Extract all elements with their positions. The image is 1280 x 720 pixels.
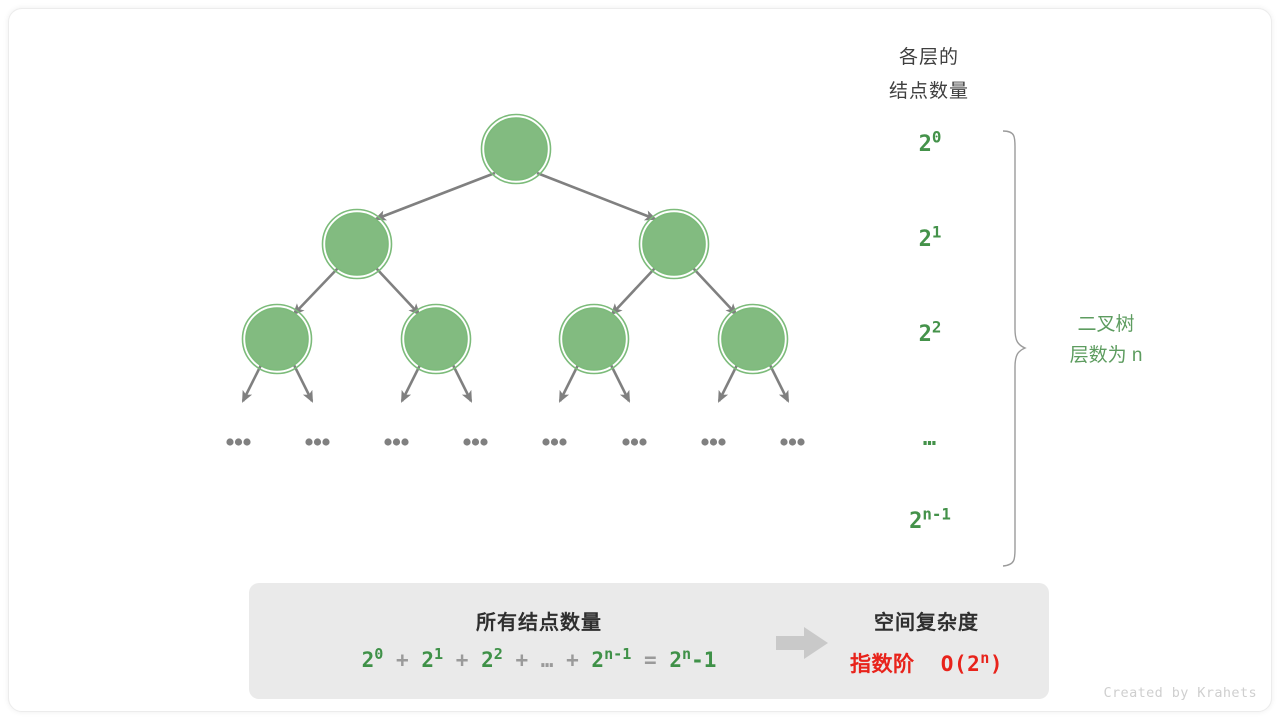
formula-operator: +: [566, 648, 579, 672]
level-count-base: 2: [909, 509, 922, 534]
summary-left-title: 所有结点数量: [279, 606, 799, 635]
formula-operator: +: [396, 648, 409, 672]
diagram-card: 各层的 结点数量 20 21 22 … 2n-1 二叉树 层数为 n 所有结点数…: [8, 8, 1272, 712]
level-count-base: 2: [919, 227, 932, 252]
formula-operator: =: [644, 648, 657, 672]
tree-node: [405, 308, 467, 370]
summary-left-formula: 20 + 21 + 22 + … + 2n-1 = 2n-1: [279, 648, 799, 672]
formula-result: 2n-1: [669, 648, 716, 672]
complexity-notation: O(2n): [941, 652, 1003, 676]
summary-right-result: 指数阶 O(2n): [819, 648, 1034, 678]
summary-panel: 所有结点数量 20 + 21 + 22 + … + 2n-1 = 2n-1 空间…: [249, 583, 1049, 699]
formula-term: 21: [421, 648, 443, 672]
tree-nodes: [243, 115, 788, 374]
level-count-base: 2: [919, 132, 932, 157]
right-arrow-icon: [774, 626, 830, 660]
tree-node: [563, 308, 625, 370]
level-count-label-2: 22: [845, 322, 1015, 347]
formula-ellipsis: …: [541, 648, 554, 672]
level-range-brace-icon: [999, 129, 1033, 569]
column-header-line1: 各层的: [847, 41, 1011, 75]
level-count-column-header: 各层的 结点数量: [847, 41, 1011, 109]
level-count-base: …: [923, 426, 937, 451]
level-count-exponent: 1: [932, 223, 942, 242]
tree-edges: [243, 173, 788, 401]
brace-annotation: 二叉树 层数为 n: [1031, 309, 1181, 371]
level-count-label-last: 2n-1: [845, 509, 1015, 534]
summary-left-column: 所有结点数量 20 + 21 + 22 + … + 2n-1 = 2n-1: [279, 606, 799, 672]
summary-right-column: 空间复杂度 指数阶 O(2n): [819, 606, 1034, 678]
brace-annotation-line1: 二叉树: [1031, 309, 1181, 340]
formula-operator: +: [456, 648, 469, 672]
formula-term: 22: [481, 648, 503, 672]
summary-right-title: 空间复杂度: [819, 606, 1034, 635]
level-count-label-0: 20: [845, 132, 1015, 157]
formula-term: 2n-1: [591, 648, 631, 672]
formula-term: 20: [362, 648, 384, 672]
level-count-label-1: 21: [845, 227, 1015, 252]
level-count-base: 2: [919, 322, 932, 347]
tree-node: [643, 213, 705, 275]
complexity-class-label: 指数阶: [850, 652, 915, 676]
level-count-label-ellipsis: …: [845, 426, 1015, 451]
credit-text: Created by Krahets: [1104, 685, 1258, 701]
brace-annotation-line2: 层数为 n: [1031, 340, 1181, 371]
tree-node: [326, 213, 388, 275]
column-header-line2: 结点数量: [847, 75, 1011, 109]
level-count-exponent: n-1: [922, 505, 951, 524]
level-count-exponent: 2: [932, 318, 942, 337]
tree-node: [722, 308, 784, 370]
formula-operator: +: [515, 648, 528, 672]
level-count-exponent: 0: [932, 128, 942, 147]
tree-ellipsis-row: [226, 438, 804, 445]
tree-node: [485, 118, 547, 180]
tree-node: [246, 308, 308, 370]
